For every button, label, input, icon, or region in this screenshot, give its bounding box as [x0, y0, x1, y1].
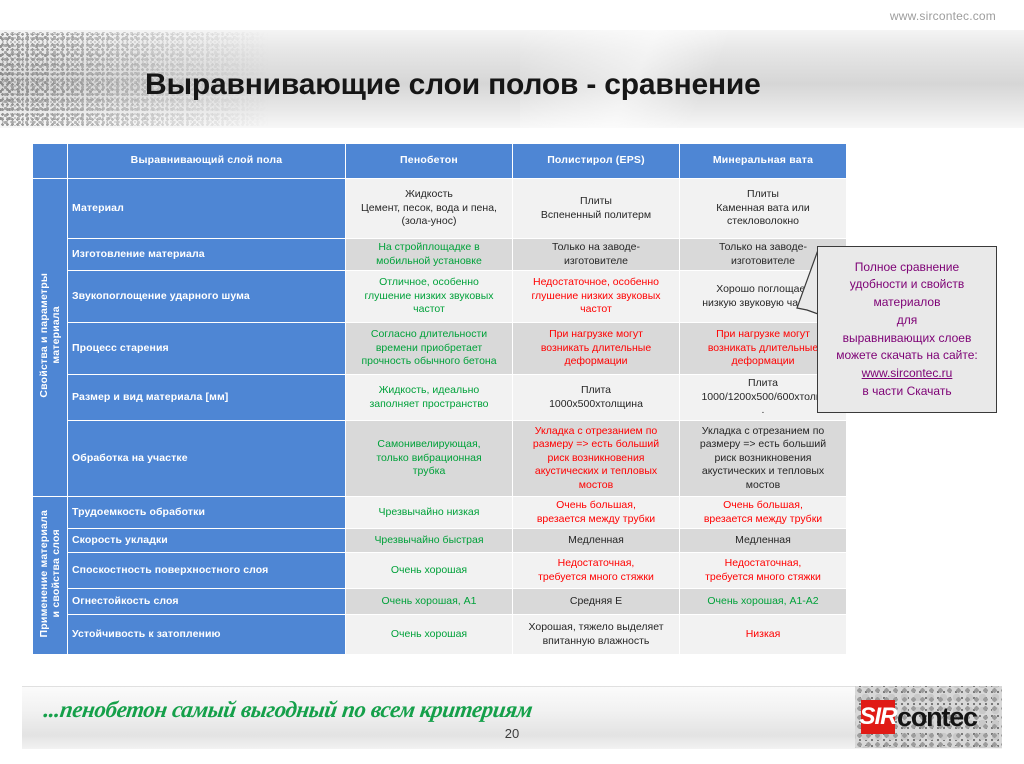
table-cell: Медленная	[513, 529, 680, 553]
table-cell: Только на заводе- изготовителе	[513, 239, 680, 271]
row-label: Трудоемкость обработки	[68, 497, 346, 529]
table-row: Свойства и параметры материалаМатериалЖи…	[33, 179, 847, 239]
footer-tagline: ...пенобетон самый выгодный по всем крит…	[42, 697, 534, 723]
table-row: Размер и вид материала [мм]Жидкость, иде…	[33, 375, 847, 421]
callout-pointer-tail	[795, 250, 819, 316]
table-cell: Недостаточная, требуется много стяжки	[513, 553, 680, 589]
row-group-label-1: Применение материала и свойства слоя	[33, 497, 68, 655]
table-cell: Плиты Каменная вата или стекловолокно	[680, 179, 847, 239]
table-cell: Чрезвычайно быстрая	[346, 529, 513, 553]
table-cell: Отличное, особенно глушение низких звуко…	[346, 271, 513, 323]
logo-mark-sir: SIR	[861, 700, 895, 734]
sircontec-download-link[interactable]: www.sircontec.ru	[862, 366, 953, 380]
row-label: Процесс старения	[68, 323, 346, 375]
callout-text: Полное сравнение удобности и свойств мат…	[832, 259, 982, 401]
page-title: Выравнивающие слои полов - сравнение	[145, 68, 761, 102]
row-label: Скорость укладки	[68, 529, 346, 553]
table-cell: Очень большая, врезается между трубки	[513, 497, 680, 529]
row-label: Споскостность поверхностного слоя	[68, 553, 346, 589]
slide-header: www.sircontec.com Выравнивающие слои пол…	[0, 0, 1024, 132]
callout-box: Полное сравнение удобности и свойств мат…	[817, 246, 997, 413]
row-label: Огнестойкость слоя	[68, 589, 346, 615]
table-row: Скорость укладкиЧрезвычайно быстраяМедле…	[33, 529, 847, 553]
table-cell: Средняя Е	[513, 589, 680, 615]
table-cell: Укладка с отрезанием по размеру => есть …	[513, 421, 680, 497]
row-label: Размер и вид материала [мм]	[68, 375, 346, 421]
table-cell: Жидкость Цемент, песок, вода и пена, (зо…	[346, 179, 513, 239]
table-cell: При нагрузке могут возникать длительные …	[513, 323, 680, 375]
table-cell: Жидкость, идеально заполняет пространств…	[346, 375, 513, 421]
row-label: Обработка на участке	[68, 421, 346, 497]
sircontec-logo: SIR contec	[855, 686, 1002, 748]
header-corner-spacer	[33, 144, 68, 179]
row-label: Звукопоглощение ударного шума	[68, 271, 346, 323]
table-row: Процесс старенияСогласно длительности вр…	[33, 323, 847, 375]
table-cell: Очень хорошая	[346, 615, 513, 655]
callout-line-3: материалов	[874, 295, 941, 309]
row-label: Материал	[68, 179, 346, 239]
table-cell: Недостаточное, особенно глушение низких …	[513, 271, 680, 323]
table-cell: Очень большая, врезается между трубки	[680, 497, 847, 529]
table-cell: На стройплощадке в мобильной установке	[346, 239, 513, 271]
table-cell: Плиты Вспененный политерм	[513, 179, 680, 239]
row-label: Изготовление материала	[68, 239, 346, 271]
table-row: Огнестойкость слояОчень хорошая, А1Средн…	[33, 589, 847, 615]
table-cell: Чрезвычайно низкая	[346, 497, 513, 529]
slide-footer: ...пенобетон самый выгодный по всем крит…	[0, 686, 1024, 764]
table-row: Звукопоглощение ударного шумаОтличное, о…	[33, 271, 847, 323]
row-label: Устойчивость к затоплению	[68, 615, 346, 655]
table-row: Обработка на участкеСамонивелирующая, то…	[33, 421, 847, 497]
callout-line-6: можете скачать на сайте:	[836, 348, 978, 362]
table-cell: Хорошая, тяжело выделяет впитанную влажн…	[513, 615, 680, 655]
column-header-2: Полистирол (EPS)	[513, 144, 680, 179]
column-header-1: Пенобетон	[346, 144, 513, 179]
table-row: Изготовление материалаНа стройплощадке в…	[33, 239, 847, 271]
callout-line-4: для	[897, 313, 918, 327]
logo-word-contec: contec	[897, 702, 977, 733]
table-cell: Медленная	[680, 529, 847, 553]
table-cell: Низкая	[680, 615, 847, 655]
column-header-3: Минеральная вата	[680, 144, 847, 179]
table-cell: Очень хорошая, А1-А2	[680, 589, 847, 615]
table-cell: Плита 1000х500хтолщина	[513, 375, 680, 421]
table-cell: Очень хорошая	[346, 553, 513, 589]
site-url-label: www.sircontec.com	[890, 9, 996, 23]
column-header-0: Выравнивающий слой пола	[68, 144, 346, 179]
row-group-label-0: Свойства и параметры материала	[33, 179, 68, 497]
callout-line-7: в части Скачать	[862, 384, 951, 398]
table-row: Применение материала и свойства слояТруд…	[33, 497, 847, 529]
callout-line-2: удобности и свойств	[850, 277, 965, 291]
callout-line-5: выравнивающих слоев	[843, 331, 972, 345]
table-header-row: Выравнивающий слой полаПенобетонПолистир…	[33, 144, 847, 179]
table-cell: Недостаточная, требуется много стяжки	[680, 553, 847, 589]
comparison-table: Выравнивающий слой полаПенобетонПолистир…	[32, 143, 847, 655]
table-cell: Укладка с отрезанием по размеру => есть …	[680, 421, 847, 497]
table-cell: Самонивелирующая, только вибрационная тр…	[346, 421, 513, 497]
table-row: Устойчивость к затоплениюОчень хорошаяХо…	[33, 615, 847, 655]
table-row: Споскостность поверхностного слояОчень х…	[33, 553, 847, 589]
table-cell: Очень хорошая, А1	[346, 589, 513, 615]
header-url-strip: www.sircontec.com	[0, 0, 1024, 30]
table-cell: Согласно длительности времени приобретае…	[346, 323, 513, 375]
callout-line-1: Полное сравнение	[855, 260, 959, 274]
